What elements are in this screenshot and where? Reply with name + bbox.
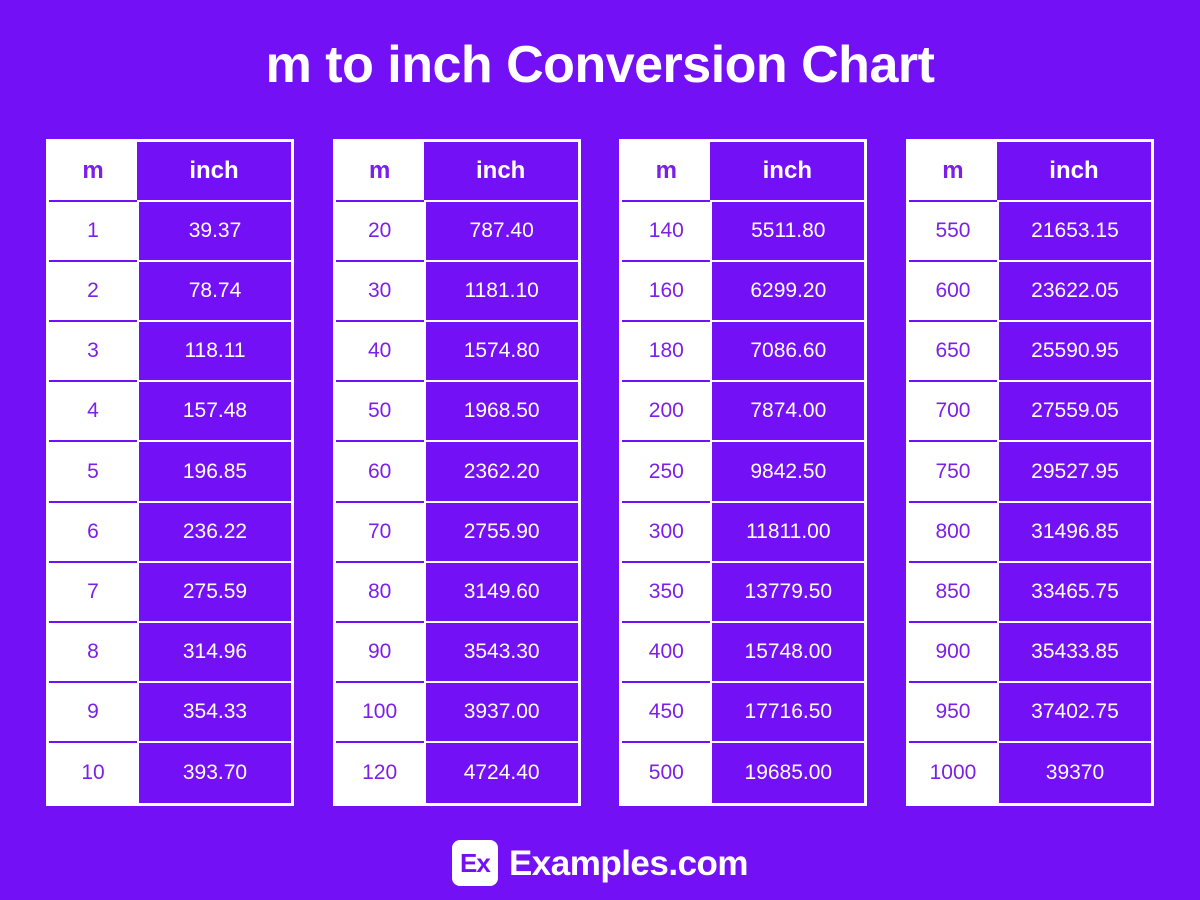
- cell-meters: 850: [909, 563, 997, 623]
- cell-inches: 354.33: [137, 683, 291, 743]
- cell-meters: 10: [49, 743, 137, 803]
- cell-meters: 6: [49, 503, 137, 563]
- table-row: 100039370: [909, 743, 1151, 803]
- cell-meters: 400: [622, 623, 710, 683]
- title-bar: m to inch Conversion Chart: [0, 0, 1200, 130]
- cell-meters: 2: [49, 262, 137, 322]
- cell-meters: 1: [49, 202, 137, 262]
- table-row: 1204724.40: [336, 743, 578, 803]
- cell-meters: 20: [336, 202, 424, 262]
- cell-inches: 393.70: [137, 743, 291, 803]
- table-header-row: minch: [909, 142, 1151, 202]
- column-header-m: m: [622, 142, 710, 202]
- table-row: 602362.20: [336, 442, 578, 502]
- cell-inches: 9842.50: [710, 442, 864, 502]
- conversion-table: minch1405511.801606299.201807086.6020078…: [619, 139, 867, 806]
- cell-inches: 39.37: [137, 202, 291, 262]
- cell-inches: 25590.95: [997, 322, 1151, 382]
- table-row: 95037402.75: [909, 683, 1151, 743]
- cell-meters: 8: [49, 623, 137, 683]
- conversion-tables-container: minch139.37278.743118.114157.485196.8562…: [46, 139, 1154, 806]
- cell-inches: 35433.85: [997, 623, 1151, 683]
- cell-inches: 39370: [997, 743, 1151, 803]
- table-row: 3118.11: [49, 322, 291, 382]
- cell-inches: 196.85: [137, 442, 291, 502]
- cell-inches: 31496.85: [997, 503, 1151, 563]
- cell-meters: 180: [622, 322, 710, 382]
- table-row: 65025590.95: [909, 322, 1151, 382]
- cell-meters: 750: [909, 442, 997, 502]
- cell-inches: 7874.00: [710, 382, 864, 442]
- cell-meters: 300: [622, 503, 710, 563]
- cell-inches: 19685.00: [710, 743, 864, 803]
- conversion-table: minch139.37278.743118.114157.485196.8562…: [46, 139, 294, 806]
- cell-meters: 550: [909, 202, 997, 262]
- cell-inches: 275.59: [137, 563, 291, 623]
- brand-name: Examples.com: [509, 846, 748, 881]
- table-row: 1003937.00: [336, 683, 578, 743]
- cell-inches: 21653.15: [997, 202, 1151, 262]
- cell-meters: 120: [336, 743, 424, 803]
- table-row: 9354.33: [49, 683, 291, 743]
- column-header-inch: inch: [424, 142, 578, 202]
- cell-meters: 160: [622, 262, 710, 322]
- cell-meters: 70: [336, 503, 424, 563]
- cell-inches: 37402.75: [997, 683, 1151, 743]
- cell-inches: 27559.05: [997, 382, 1151, 442]
- cell-meters: 9: [49, 683, 137, 743]
- cell-meters: 900: [909, 623, 997, 683]
- table-row: 6236.22: [49, 503, 291, 563]
- cell-inches: 6299.20: [710, 262, 864, 322]
- cell-inches: 13779.50: [710, 563, 864, 623]
- footer-branding: Ex Examples.com: [0, 826, 1200, 900]
- cell-meters: 650: [909, 322, 997, 382]
- table-row: 60023622.05: [909, 262, 1151, 322]
- table-row: 85033465.75: [909, 563, 1151, 623]
- cell-inches: 314.96: [137, 623, 291, 683]
- cell-inches: 787.40: [424, 202, 578, 262]
- cell-inches: 4724.40: [424, 743, 578, 803]
- column-header-inch: inch: [710, 142, 864, 202]
- cell-inches: 2755.90: [424, 503, 578, 563]
- cell-meters: 950: [909, 683, 997, 743]
- cell-inches: 5511.80: [710, 202, 864, 262]
- cell-meters: 40: [336, 322, 424, 382]
- table-row: 75029527.95: [909, 442, 1151, 502]
- table-row: 45017716.50: [622, 683, 864, 743]
- cell-meters: 250: [622, 442, 710, 502]
- table-header-row: minch: [336, 142, 578, 202]
- conversion-table: minch55021653.1560023622.0565025590.9570…: [906, 139, 1154, 806]
- table-row: 30011811.00: [622, 503, 864, 563]
- cell-meters: 4: [49, 382, 137, 442]
- table-row: 803149.60: [336, 563, 578, 623]
- table-row: 301181.10: [336, 262, 578, 322]
- table-row: 8314.96: [49, 623, 291, 683]
- table-row: 702755.90: [336, 503, 578, 563]
- cell-inches: 29527.95: [997, 442, 1151, 502]
- table-row: 90035433.85: [909, 623, 1151, 683]
- table-row: 2509842.50: [622, 442, 864, 502]
- cell-inches: 236.22: [137, 503, 291, 563]
- conversion-chart-page: m to inch Conversion Chart minch139.3727…: [0, 0, 1200, 900]
- cell-inches: 1574.80: [424, 322, 578, 382]
- table-row: 35013779.50: [622, 563, 864, 623]
- cell-inches: 1181.10: [424, 262, 578, 322]
- cell-inches: 23622.05: [997, 262, 1151, 322]
- table-row: 4157.48: [49, 382, 291, 442]
- column-header-inch: inch: [997, 142, 1151, 202]
- cell-meters: 100: [336, 683, 424, 743]
- cell-inches: 1968.50: [424, 382, 578, 442]
- cell-meters: 450: [622, 683, 710, 743]
- table-row: 55021653.15: [909, 202, 1151, 262]
- table-row: 278.74: [49, 262, 291, 322]
- cell-inches: 7086.60: [710, 322, 864, 382]
- table-row: 40015748.00: [622, 623, 864, 683]
- cell-meters: 350: [622, 563, 710, 623]
- cell-meters: 3: [49, 322, 137, 382]
- table-row: 1606299.20: [622, 262, 864, 322]
- table-row: 50019685.00: [622, 743, 864, 803]
- table-row: 2007874.00: [622, 382, 864, 442]
- column-header-m: m: [49, 142, 137, 202]
- column-header-m: m: [336, 142, 424, 202]
- table-row: 1807086.60: [622, 322, 864, 382]
- column-header-m: m: [909, 142, 997, 202]
- cell-inches: 33465.75: [997, 563, 1151, 623]
- table-row: 80031496.85: [909, 503, 1151, 563]
- cell-meters: 5: [49, 442, 137, 502]
- cell-meters: 700: [909, 382, 997, 442]
- cell-inches: 157.48: [137, 382, 291, 442]
- table-row: 70027559.05: [909, 382, 1151, 442]
- cell-meters: 500: [622, 743, 710, 803]
- cell-meters: 60: [336, 442, 424, 502]
- cell-meters: 90: [336, 623, 424, 683]
- cell-meters: 80: [336, 563, 424, 623]
- cell-meters: 140: [622, 202, 710, 262]
- cell-inches: 17716.50: [710, 683, 864, 743]
- cell-inches: 3543.30: [424, 623, 578, 683]
- conversion-table: minch20787.40301181.10401574.80501968.50…: [333, 139, 581, 806]
- cell-inches: 3149.60: [424, 563, 578, 623]
- table-row: 501968.50: [336, 382, 578, 442]
- cell-meters: 800: [909, 503, 997, 563]
- table-row: 903543.30: [336, 623, 578, 683]
- cell-meters: 30: [336, 262, 424, 322]
- cell-meters: 1000: [909, 743, 997, 803]
- cell-inches: 2362.20: [424, 442, 578, 502]
- table-row: 20787.40: [336, 202, 578, 262]
- cell-meters: 600: [909, 262, 997, 322]
- table-row: 1405511.80: [622, 202, 864, 262]
- table-header-row: minch: [49, 142, 291, 202]
- cell-inches: 3937.00: [424, 683, 578, 743]
- column-header-inch: inch: [137, 142, 291, 202]
- table-row: 10393.70: [49, 743, 291, 803]
- cell-inches: 78.74: [137, 262, 291, 322]
- cell-inches: 15748.00: [710, 623, 864, 683]
- table-row: 139.37: [49, 202, 291, 262]
- cell-meters: 200: [622, 382, 710, 442]
- table-header-row: minch: [622, 142, 864, 202]
- table-row: 7275.59: [49, 563, 291, 623]
- cell-meters: 7: [49, 563, 137, 623]
- table-row: 401574.80: [336, 322, 578, 382]
- examples-logo-icon: Ex: [452, 840, 498, 886]
- cell-inches: 118.11: [137, 322, 291, 382]
- cell-meters: 50: [336, 382, 424, 442]
- cell-inches: 11811.00: [710, 503, 864, 563]
- table-row: 5196.85: [49, 442, 291, 502]
- page-title: m to inch Conversion Chart: [266, 39, 935, 91]
